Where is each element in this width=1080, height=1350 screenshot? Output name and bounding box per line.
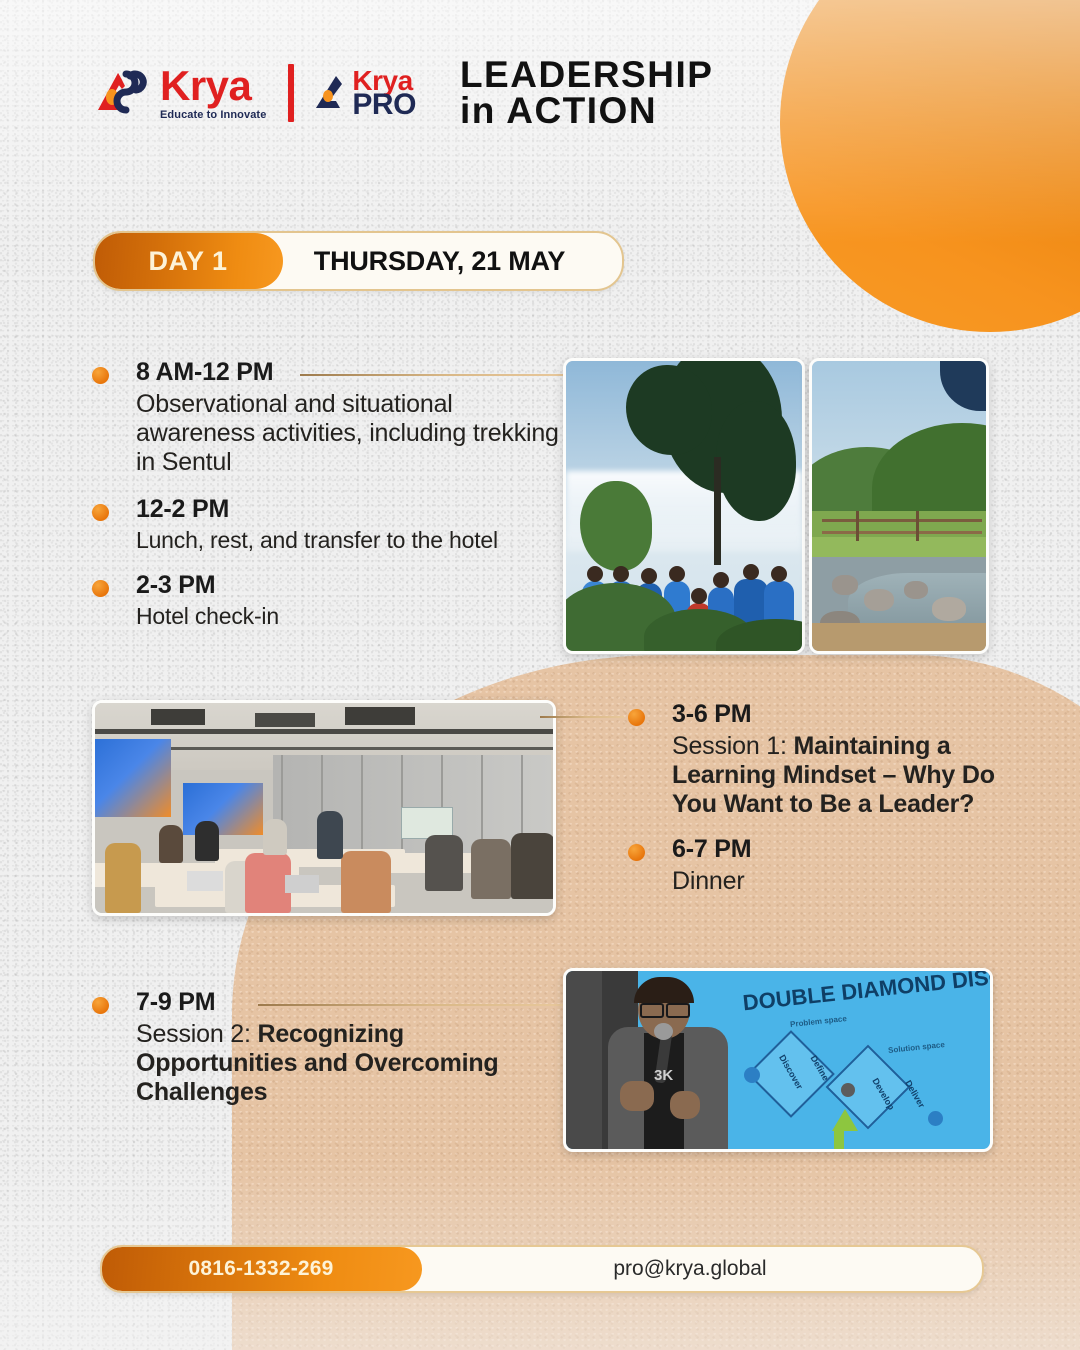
schedule-item: 3-6 PM Session 1: Maintaining a Learning… [628,700,1028,819]
schedule-item: 12-2 PM Lunch, rest, and transfer to the… [92,495,562,553]
schedule-desc: Hotel check-in [136,603,562,630]
contact-footer-bar: 0816-1332-269 pro@krya.global [100,1245,984,1293]
schedule-item: 6-7 PM Dinner [628,835,1028,896]
poster-canvas: Krya Educate to Innovate Krya PRO LEADER… [0,0,1080,1350]
day-banner: DAY 1 THURSDAY, 21 MAY [93,231,624,291]
logo-divider [288,64,294,122]
photo-content [566,361,802,651]
day-pill: DAY 1 [93,233,283,289]
photo-content [95,703,553,913]
krya-wordmark: Krya Educate to Innovate [160,65,266,121]
schedule-time: 12-2 PM [136,495,562,524]
schedule-desc: Session 1: Maintaining a Learning Mindse… [672,732,1028,819]
schedule-block-evening: 7-9 PM Session 2: Recognizing Opportunit… [92,988,562,1107]
schedule-desc: Session 2: Recognizing Opportunities and… [136,1020,562,1107]
bullet-dot-icon [92,580,109,597]
schedule-time: 6-7 PM [672,835,1028,864]
schedule-time: 8 AM-12 PM [136,358,562,387]
email-area[interactable]: pro@krya.global [422,1257,982,1281]
bullet-dot-icon [92,367,109,384]
bullet-dot-icon [628,844,645,861]
bullet-dot-icon [92,997,109,1014]
schedule-item: 2-3 PM Hotel check-in [92,571,562,629]
event-title-line1: LEADERSHIP [460,58,713,92]
schedule-desc: Lunch, rest, and transfer to the hotel [136,527,562,554]
trekking-group-photo [563,358,805,654]
krya-tagline: Educate to Innovate [160,110,266,121]
kryapro-logo: Krya PRO [310,68,416,118]
phone-number: 0816-1332-269 [188,1257,333,1281]
schedule-block-afternoon: 3-6 PM Session 1: Maintaining a Learning… [628,700,1028,896]
connector-line-b [540,716,624,718]
session-prefix: Session 1: [672,732,793,760]
krya-logo: Krya Educate to Innovate [92,64,266,122]
day-date-label: THURSDAY, 21 MAY [314,246,565,277]
event-title-line2: in ACTION [460,94,713,128]
email-address: pro@krya.global [613,1257,766,1281]
bullet-dot-icon [92,504,109,521]
day-date-area: THURSDAY, 21 MAY [283,246,622,277]
schedule-item: 7-9 PM Session 2: Recognizing Opportunit… [92,988,562,1107]
orange-ring-decoration [780,0,1080,332]
krya-name: Krya [160,65,266,107]
schedule-time: 7-9 PM [136,988,562,1017]
event-title: LEADERSHIP in ACTION [460,58,713,128]
phone-pill[interactable]: 0816-1332-269 [100,1247,422,1291]
rural-stream-landscape-photo [809,358,989,654]
poster-header: Krya Educate to Innovate Krya PRO LEADER… [92,58,713,128]
schedule-time: 3-6 PM [672,700,1028,729]
schedule-desc: Observational and situational awareness … [136,390,562,477]
schedule-item: 8 AM-12 PM Observational and situational… [92,358,562,477]
bullet-dot-icon [628,709,645,726]
speaker-double-diamond-photo: DOUBLE DIAMOND DISCIPLINE Problem space … [563,968,993,1152]
kryapro-wordmark: Krya PRO [352,68,416,118]
classroom-session-photo [92,700,556,916]
kryapro-sub: PRO [352,91,416,118]
photo-content: DOUBLE DIAMOND DISCIPLINE Problem space … [566,971,990,1149]
schedule-time: 2-3 PM [136,571,562,600]
krya-triangle-icon [92,64,154,122]
day-label: DAY 1 [148,246,227,277]
kryapro-triangle-icon [310,70,350,116]
schedule-desc: Dinner [672,867,1028,896]
schedule-block-morning: 8 AM-12 PM Observational and situational… [92,358,562,630]
photo-content [812,361,986,651]
session-prefix: Session 2: [136,1020,257,1048]
